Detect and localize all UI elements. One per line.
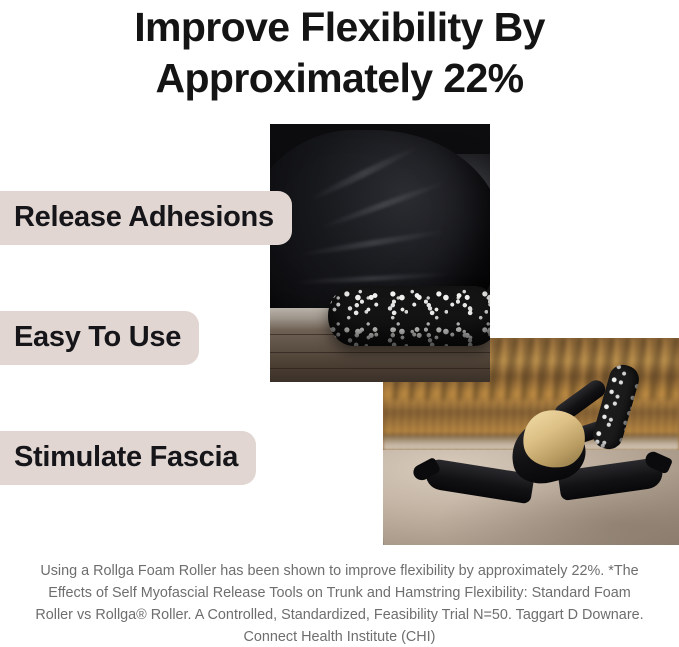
handheld-foam-roller [590,362,643,453]
headline-line-1: Improve Flexibility By [0,2,679,53]
speckled-foam-roller [328,286,490,346]
flexibility-infographic: Improve Flexibility By Approximately 22% [0,0,679,647]
citation-line-4: Connect Health Institute (CHI) [10,626,669,647]
fabric-crease [292,272,452,285]
floor-plank-line [270,368,490,369]
feature-pill-release-adhesions: Release Adhesions [0,191,292,245]
feature-pill-label: Stimulate Fascia [14,440,238,474]
feature-pill-easy-to-use: Easy To Use [0,311,199,365]
citation-line-2: Effects of Self Myofascial Release Tools… [10,582,669,604]
floor-plank-line [270,352,490,353]
citation-line-1: Using a Rollga Foam Roller has been show… [10,560,669,582]
fabric-crease [298,228,447,257]
foam-roller-under-hips-photo [270,124,490,382]
citation-line-3: Roller vs Rollga® Roller. A Controlled, … [10,604,669,626]
feature-pill-label: Easy To Use [14,320,181,354]
citation-footnote: Using a Rollga Foam Roller has been show… [0,560,679,647]
feature-pill-stimulate-fascia: Stimulate Fascia [0,431,256,485]
feature-pill-label: Release Adhesions [14,200,274,234]
headline-line-2: Approximately 22% [0,53,679,104]
page-title: Improve Flexibility By Approximately 22% [0,0,679,104]
